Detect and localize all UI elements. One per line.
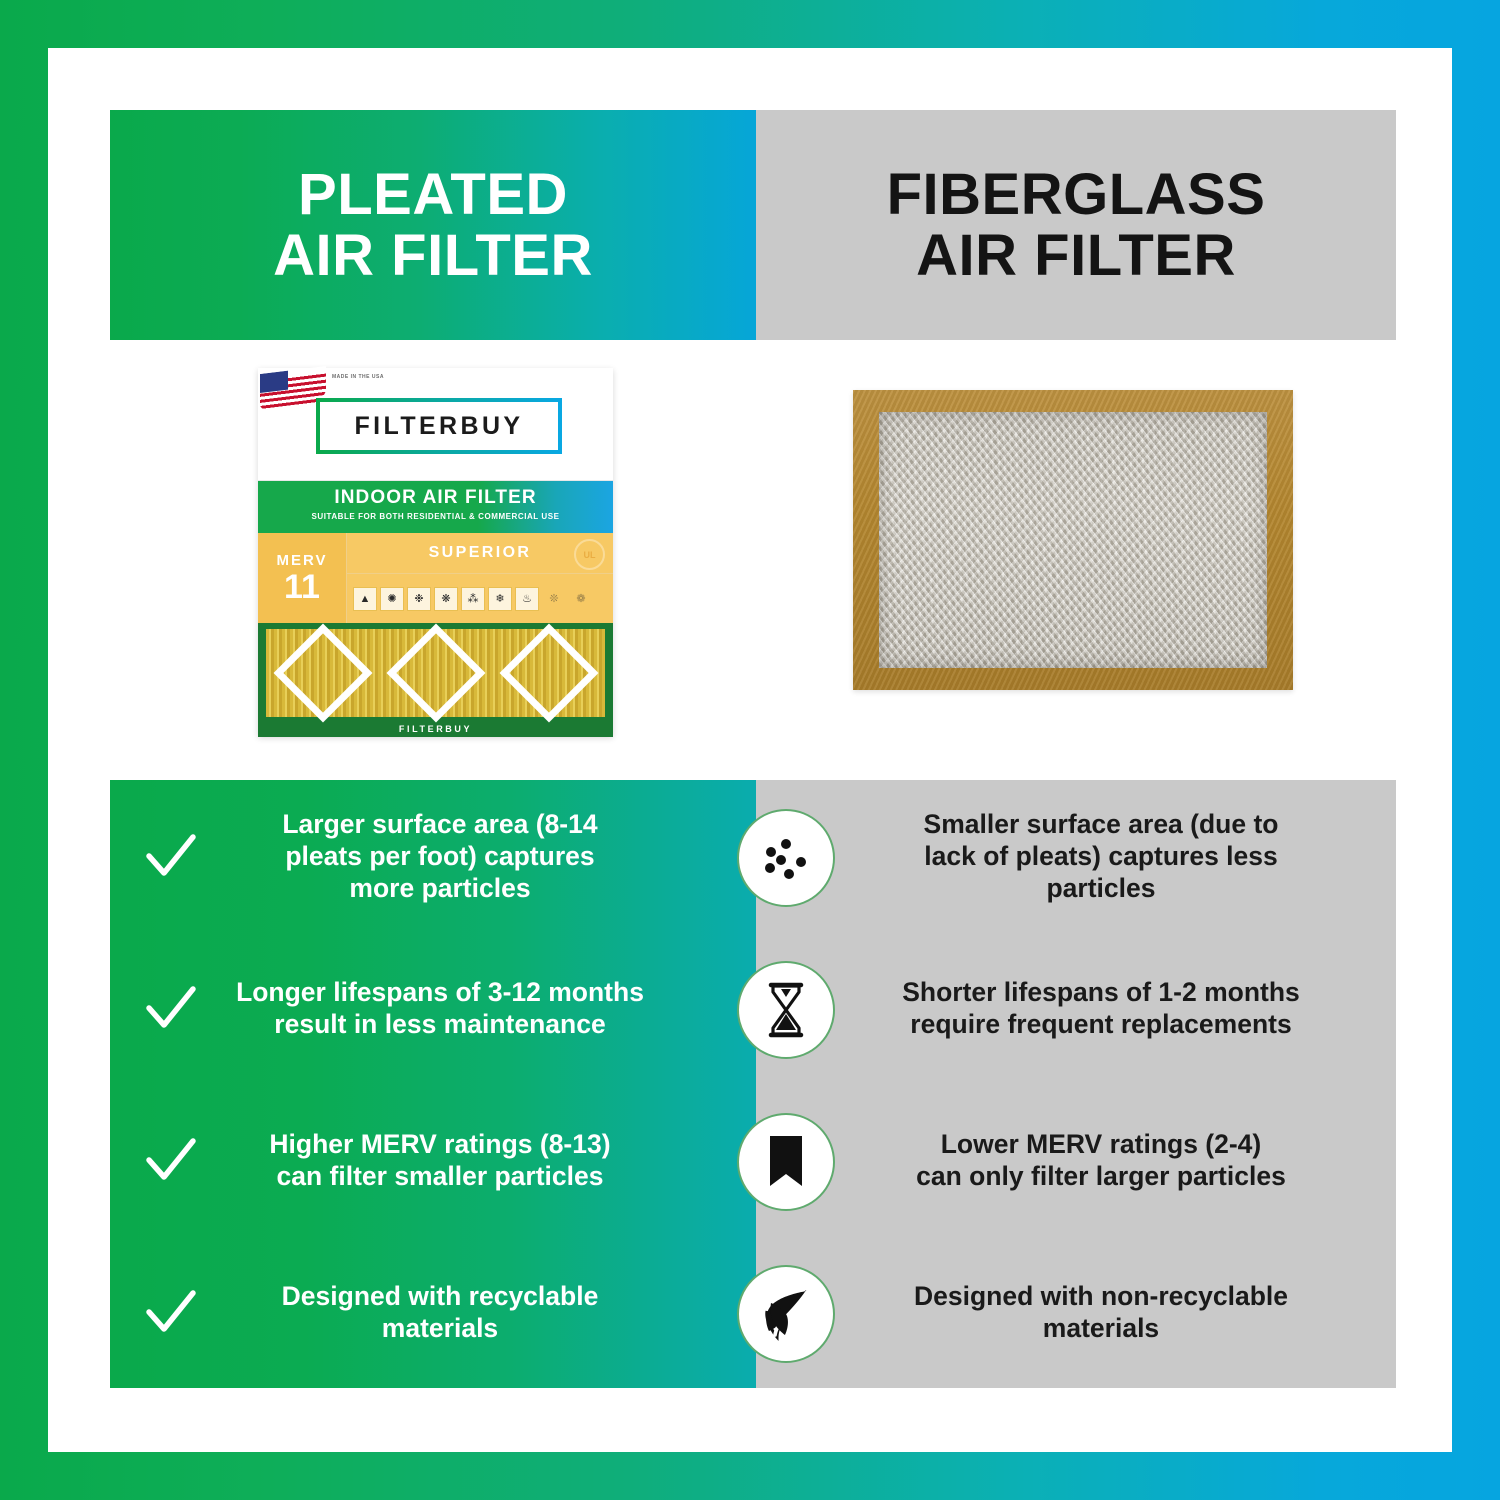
insect-icon: ✺ bbox=[380, 587, 404, 611]
row-left-cell: Designed with recyclable materials bbox=[110, 1236, 756, 1388]
row-left-cell: Longer lifespans of 3-12 months result i… bbox=[110, 932, 756, 1084]
header-row: PLEATED AIR FILTER FIBERGLASS AIR FILTER bbox=[110, 110, 1396, 340]
header-pleated: PLEATED AIR FILTER bbox=[110, 110, 756, 340]
band-line-1: INDOOR AIR FILTER bbox=[258, 487, 613, 509]
tier-and-icons: SUPERIOR UL ▲ ✺ ❉ ❋ ⁂ ❄ ♨ bbox=[347, 533, 613, 623]
row-left-cell: Higher MERV ratings (8-13) can filter sm… bbox=[110, 1084, 756, 1236]
row-left-text: Larger surface area (8-14 pleats per foo… bbox=[202, 808, 678, 905]
infographic-page: PLEATED AIR FILTER FIBERGLASS AIR FILTER… bbox=[0, 0, 1500, 1500]
support-diamond bbox=[273, 624, 372, 723]
comparison-rows: Larger surface area (8-14 pleats per foo… bbox=[110, 780, 1396, 1388]
frame-brand-label: FILTERBUY bbox=[258, 724, 613, 734]
smoke-icon: ♨ bbox=[515, 587, 539, 611]
white-canvas: PLEATED AIR FILTER FIBERGLASS AIR FILTER… bbox=[48, 48, 1452, 1452]
check-mark-icon bbox=[140, 980, 202, 1036]
row-right-text: Lower MERV ratings (2-4) can only filter… bbox=[916, 1128, 1286, 1193]
merv-value: 11 bbox=[284, 570, 320, 604]
header-fiberglass: FIBERGLASS AIR FILTER bbox=[756, 110, 1396, 340]
odor-icon: ❁ bbox=[569, 587, 593, 611]
pleated-media-view: FILTERBUY bbox=[258, 623, 613, 737]
fiberglass-mesh bbox=[879, 412, 1267, 668]
ribbon-bookmark-icon bbox=[737, 1113, 835, 1211]
merv-label: MERV bbox=[276, 552, 327, 569]
made-in-usa-label: MADE IN THE USA bbox=[332, 374, 384, 381]
brand-logo-box: FILTERBUY bbox=[316, 398, 562, 454]
row-right-cell: Smaller surface area (due to lack of ple… bbox=[756, 780, 1396, 932]
capture-icon-strip: ▲ ✺ ❉ ❋ ⁂ ❄ ♨ ❊ ❁ bbox=[347, 574, 613, 623]
row-right-text: Smaller surface area (due to lack of ple… bbox=[924, 808, 1279, 905]
header-fiberglass-title: FIBERGLASS AIR FILTER bbox=[887, 164, 1266, 287]
box-middle-section: MERV 11 SUPERIOR UL ▲ ✺ ❉ bbox=[258, 533, 613, 623]
product-cell-pleated: MADE IN THE USA FILTERBUY INDOOR AIR FIL… bbox=[110, 340, 753, 780]
box-top-section: MADE IN THE USA FILTERBUY bbox=[258, 368, 613, 481]
dust-icon: ▲ bbox=[353, 587, 377, 611]
mold-spore-icon: ❋ bbox=[434, 587, 458, 611]
check-mark-icon bbox=[140, 1132, 202, 1188]
tier-label: SUPERIOR bbox=[429, 544, 532, 562]
row-left-text: Longer lifespans of 3-12 months result i… bbox=[202, 976, 678, 1041]
row-right-cell: Shorter lifespans of 1-2 months require … bbox=[756, 932, 1396, 1084]
pollen-icon: ❉ bbox=[407, 587, 431, 611]
ul-certification-icon: UL bbox=[574, 539, 605, 570]
comparison-panel: Larger surface area (8-14 pleats per foo… bbox=[110, 780, 1396, 1388]
indoor-air-filter-band: INDOOR AIR FILTER SUITABLE FOR BOTH RESI… bbox=[258, 481, 613, 533]
row-left-text: Higher MERV ratings (8-13) can filter sm… bbox=[202, 1128, 678, 1193]
product-cell-fiberglass bbox=[753, 340, 1396, 780]
particles-icon bbox=[737, 809, 835, 907]
leaf-icon bbox=[737, 1265, 835, 1363]
row-left-text: Designed with recyclable materials bbox=[202, 1280, 678, 1345]
support-diamond bbox=[386, 624, 485, 723]
row-right-cell: Lower MERV ratings (2-4) can only filter… bbox=[756, 1084, 1396, 1236]
product-image-row: MADE IN THE USA FILTERBUY INDOOR AIR FIL… bbox=[110, 340, 1396, 780]
virus-icon: ❊ bbox=[542, 587, 566, 611]
hourglass-icon bbox=[737, 961, 835, 1059]
bacteria-icon: ⁂ bbox=[461, 587, 485, 611]
pet-dander-icon: ❄ bbox=[488, 587, 512, 611]
header-pleated-title: PLEATED AIR FILTER bbox=[273, 164, 593, 287]
row-right-cell: Designed with non-recyclable materials bbox=[756, 1236, 1396, 1388]
check-mark-icon bbox=[140, 828, 202, 884]
support-diamond bbox=[499, 624, 598, 723]
row-right-text: Shorter lifespans of 1-2 months require … bbox=[902, 976, 1300, 1041]
band-line-2: SUITABLE FOR BOTH RESIDENTIAL & COMMERCI… bbox=[258, 512, 613, 521]
row-left-cell: Larger surface area (8-14 pleats per foo… bbox=[110, 780, 756, 932]
merv-badge: MERV 11 bbox=[258, 533, 347, 623]
filterbuy-product-box: MADE IN THE USA FILTERBUY INDOOR AIR FIL… bbox=[258, 368, 613, 736]
support-grid bbox=[266, 629, 605, 717]
tier-row: SUPERIOR UL bbox=[347, 533, 613, 574]
fiberglass-filter-photo bbox=[853, 390, 1293, 690]
row-right-text: Designed with non-recyclable materials bbox=[914, 1280, 1288, 1345]
check-mark-icon bbox=[140, 1284, 202, 1340]
brand-name: FILTERBUY bbox=[354, 412, 523, 441]
